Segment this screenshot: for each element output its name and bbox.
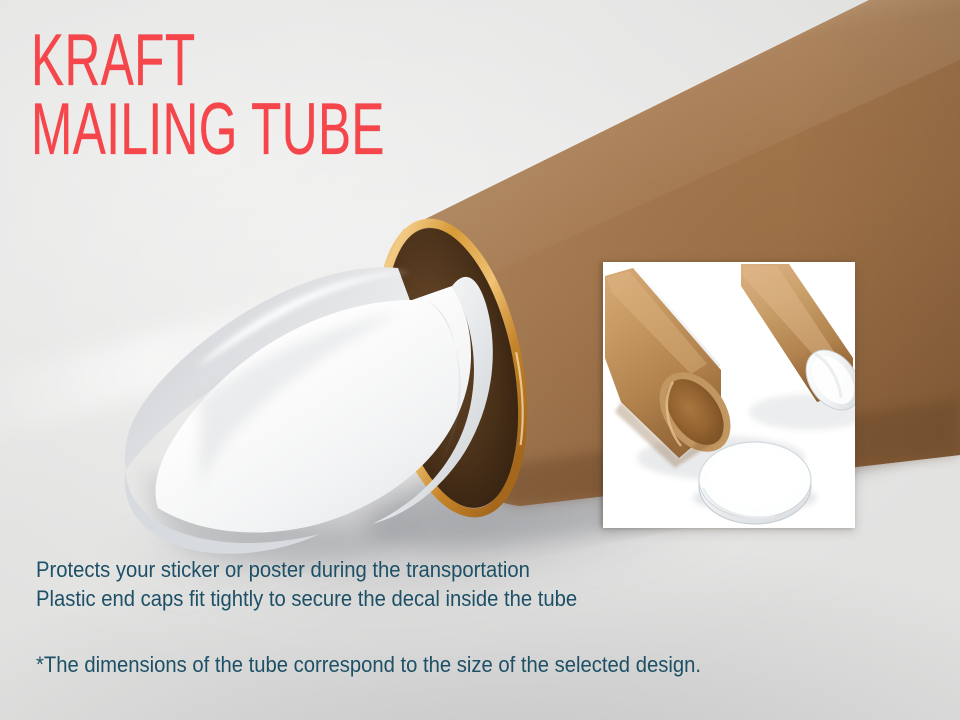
feature-description: Protects your sticker or poster during t… xyxy=(36,556,624,613)
headline-line-2: MAILING TUBE xyxy=(31,95,385,167)
headline-line-1: KRAFT xyxy=(31,26,385,98)
footnote-text: *The dimensions of the tube correspond t… xyxy=(36,652,701,678)
page-title: KRAFT MAILING TUBE xyxy=(31,26,473,164)
poster-canvas: KRAFT MAILING TUBE Protects your sticker… xyxy=(0,0,960,720)
feature-line-2: Plastic end caps fit tightly to secure t… xyxy=(36,585,577,614)
inset-loose-cap xyxy=(699,442,811,524)
feature-line-1: Protects your sticker or poster during t… xyxy=(36,556,577,585)
inset-photo xyxy=(603,262,855,528)
